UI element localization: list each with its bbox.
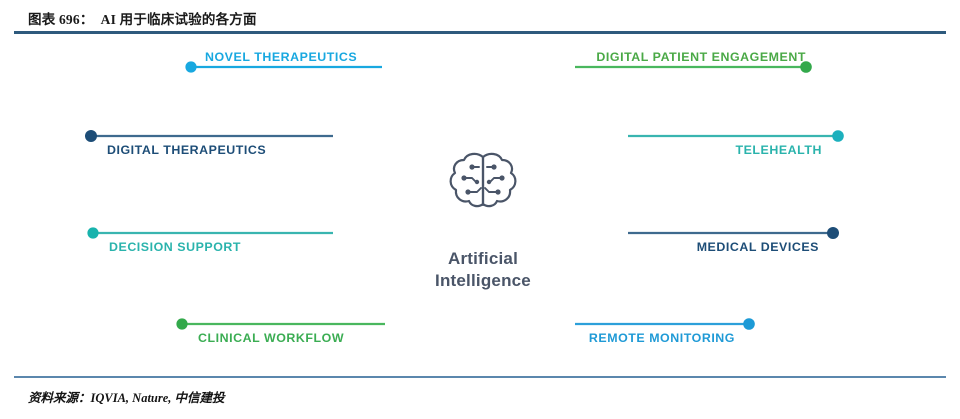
connector-remote-monitoring (575, 318, 755, 330)
connector-medical-devices (628, 227, 839, 239)
connector-dot (85, 130, 97, 142)
connector-dot (185, 61, 196, 72)
radial-diagram: Artificial Intelligence NOVEL THERAPEUTI… (0, 36, 960, 372)
flower-graphic (0, 36, 960, 372)
label-novel-therapeutics[interactable]: NOVEL THERAPEUTICS (205, 51, 357, 63)
label-remote-monitoring[interactable]: REMOTE MONITORING (589, 332, 735, 344)
label-decision-support[interactable]: DECISION SUPPORT (109, 241, 241, 253)
connector-dot (832, 130, 844, 142)
label-clinical-workflow[interactable]: CLINICAL WORKFLOW (198, 332, 344, 344)
connector-dot (743, 318, 755, 330)
connector-dot (176, 318, 187, 329)
connector-decision-support (87, 227, 333, 238)
source-divider (14, 376, 946, 378)
source-note: 资料来源：IQVIA, Nature, 中信建投 (28, 387, 225, 406)
connector-dot (827, 227, 839, 239)
title-divider (14, 31, 946, 34)
hub-label-line1: Artificial (403, 248, 563, 270)
connector-clinical-workflow (176, 318, 385, 329)
label-digital-patient-engagement[interactable]: DIGITAL PATIENT ENGAGEMENT (596, 51, 806, 63)
hub-label-line2: Intelligence (403, 270, 563, 292)
hub-label: Artificial Intelligence (403, 248, 563, 293)
label-telehealth[interactable]: TELEHEALTH (736, 144, 823, 156)
connector-digital-therapeutics (85, 130, 333, 142)
label-digital-therapeutics[interactable]: DIGITAL THERAPEUTICS (107, 144, 266, 156)
page-title: 图表 696： AI 用于临床试验的各方面 (28, 8, 257, 28)
connector-dot (87, 227, 98, 238)
connector-telehealth (628, 130, 844, 142)
label-medical-devices[interactable]: MEDICAL DEVICES (697, 241, 819, 253)
